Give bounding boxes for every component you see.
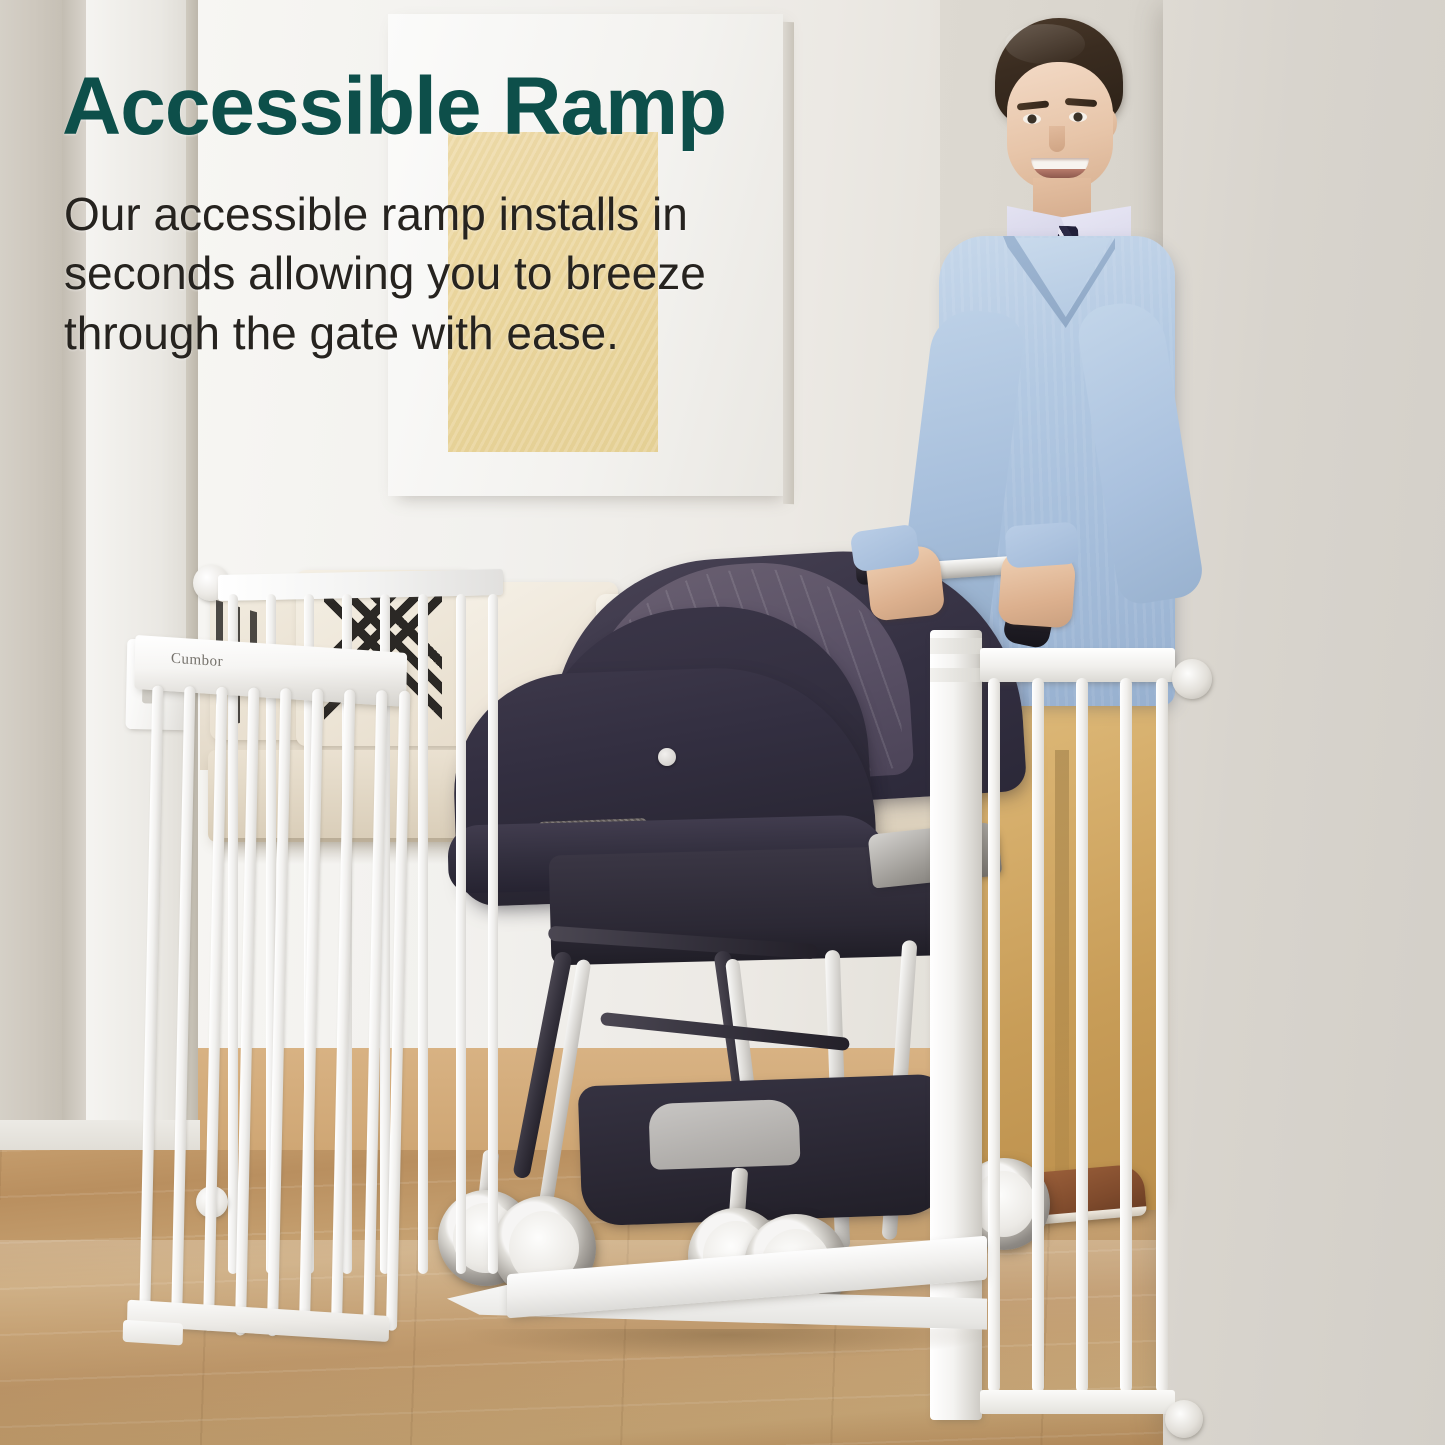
accessible-ramp <box>447 1255 987 1365</box>
body-line-1: Our accessible ramp installs in <box>64 185 844 244</box>
gate-door-panel[interactable]: Cumbor <box>112 627 427 1358</box>
pressure-bolt-top-right <box>1172 659 1212 699</box>
body-copy: Our accessible ramp installs in seconds … <box>64 185 844 363</box>
ramp-shadow <box>467 1329 987 1359</box>
gate-post-notch <box>930 638 982 654</box>
gate-door-bars <box>139 685 410 1335</box>
product-lifestyle-image: Cumbor <box>0 0 1445 1445</box>
gate-post-notch <box>930 668 982 682</box>
body-line-3: through the gate with ease. <box>64 304 844 363</box>
page-title: Accessible Ramp <box>62 66 726 148</box>
gate-door-foot <box>123 1320 183 1346</box>
brand-logo: Cumbor <box>171 651 223 671</box>
gate-right-frame <box>980 648 1175 1430</box>
gate-right-bottom-rail <box>980 1390 1175 1414</box>
body-line-2: seconds allowing you to breeze <box>64 244 844 303</box>
gate-right-top-rail <box>980 648 1175 682</box>
pressure-bolt-bottom-right <box>1165 1400 1203 1438</box>
gate-right-bars <box>988 678 1168 1393</box>
